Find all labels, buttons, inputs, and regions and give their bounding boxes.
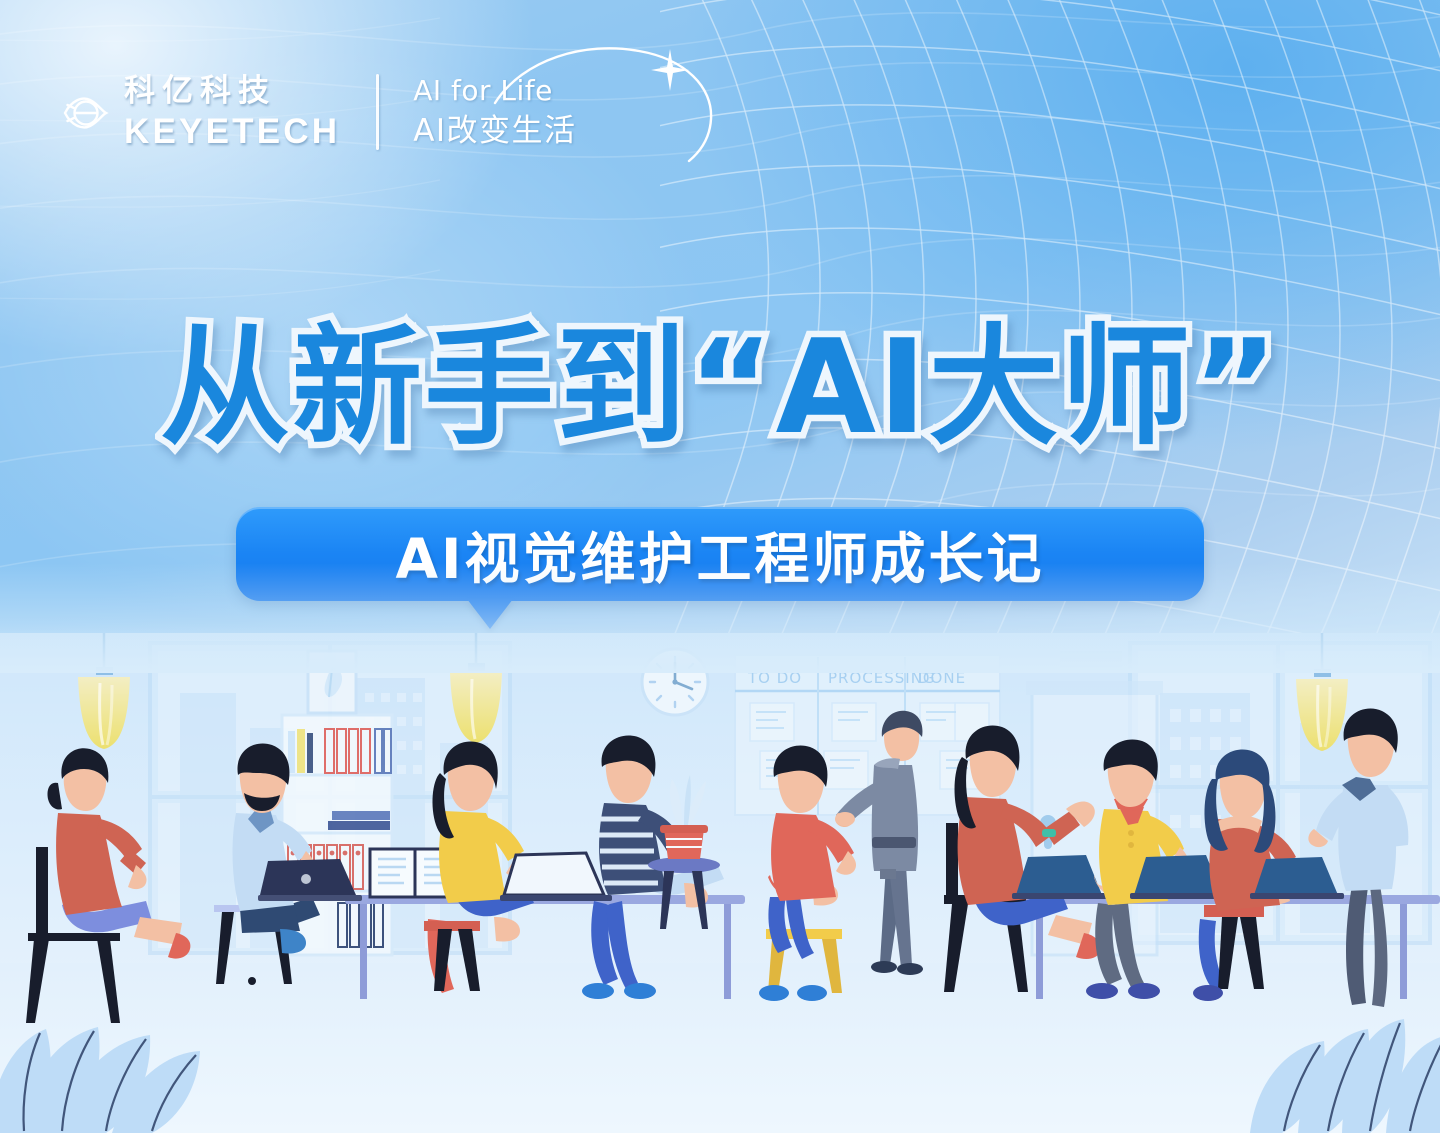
poster-root: 科亿科技 KEYETECH AI for Life AI改变生活 从新手到“AI…: [0, 0, 1440, 1133]
brand-logo: 科亿科技 KEYETECH AI for Life AI改变生活: [62, 74, 577, 150]
logo-divider: [376, 74, 379, 150]
logo-company-cn: 科亿科技: [124, 76, 340, 107]
office-scene-svg: TO DO PROCESSING DONE: [0, 633, 1440, 1133]
logo-tagline-cn: AI改变生活: [413, 116, 576, 147]
illustration-top-fade: [0, 563, 1440, 673]
logo-tagline-en: AI for Life: [413, 77, 576, 105]
page-title: 从新手到“AI大师”: [0, 322, 1440, 452]
logo-wordmark: 科亿科技 KEYETECH: [124, 76, 340, 149]
eye-lens-icon: [62, 89, 110, 137]
office-illustration: TO DO PROCESSING DONE: [0, 633, 1440, 1133]
logo-company-en: KEYETECH: [124, 114, 340, 149]
logo-tagline-block: AI for Life AI改变生活: [413, 77, 576, 147]
